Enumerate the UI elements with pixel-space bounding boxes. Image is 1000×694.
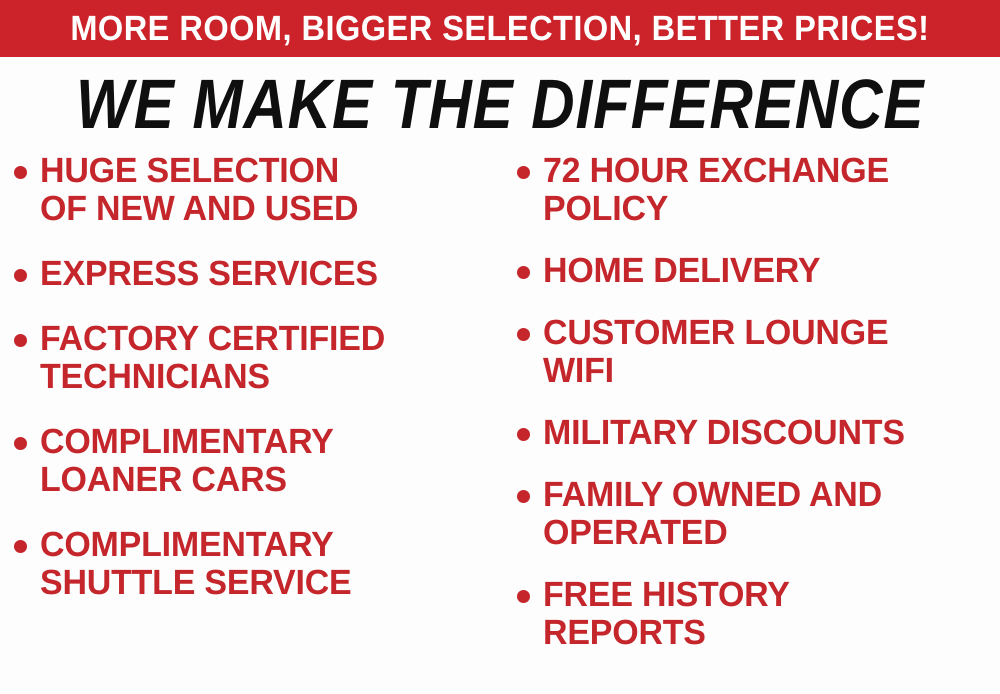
list-item: COMPLIMENTARY SHUTTLE SERVICE [14,526,500,602]
list-item-label: FREE HISTORY REPORTS [543,576,790,652]
list-item-label: FACTORY CERTIFIED TECHNICIANS [40,320,385,396]
list-item: HUGE SELECTION OF NEW AND USED [14,152,500,228]
bullet-dot-icon [14,166,27,179]
features-column-right: 72 HOUR EXCHANGE POLICY HOME DELIVERY CU… [500,152,1000,676]
list-item-label: EXPRESS SERVICES [40,255,378,293]
bullet-dot-icon [517,166,530,179]
top-promo-banner: MORE ROOM, BIGGER SELECTION, BETTER PRIC… [0,0,1000,57]
list-item-label: HOME DELIVERY [543,252,820,290]
bullet-dot-icon [14,269,27,282]
list-item: FREE HISTORY REPORTS [517,576,1000,652]
list-item: MILITARY DISCOUNTS [517,414,1000,452]
bullet-dot-icon [14,540,27,553]
list-item: 72 HOUR EXCHANGE POLICY [517,152,1000,228]
features-columns: HUGE SELECTION OF NEW AND USED EXPRESS S… [0,152,1000,694]
headline-text: WE MAKE THE DIFFERENCE [76,67,924,141]
bullet-dot-icon [517,328,530,341]
list-item-label: COMPLIMENTARY LOANER CARS [40,423,334,499]
list-item-label: HUGE SELECTION OF NEW AND USED [40,152,358,228]
top-promo-banner-text: MORE ROOM, BIGGER SELECTION, BETTER PRIC… [70,11,929,47]
bullet-dot-icon [517,266,530,279]
list-item-label: MILITARY DISCOUNTS [543,414,905,452]
list-item-label: 72 HOUR EXCHANGE POLICY [543,152,889,228]
list-item: FAMILY OWNED AND OPERATED [517,476,1000,552]
bullet-dot-icon [517,490,530,503]
list-item: FACTORY CERTIFIED TECHNICIANS [14,320,500,396]
bullet-dot-icon [517,428,530,441]
list-item: HOME DELIVERY [517,252,1000,290]
list-item-label: FAMILY OWNED AND OPERATED [543,476,882,552]
bullet-dot-icon [14,437,27,450]
advertisement-banner: MORE ROOM, BIGGER SELECTION, BETTER PRIC… [0,0,1000,694]
list-item: CUSTOMER LOUNGE WIFI [517,314,1000,390]
list-item-label: CUSTOMER LOUNGE WIFI [543,314,888,390]
list-item: EXPRESS SERVICES [14,255,500,293]
bullet-dot-icon [517,590,530,603]
features-column-left: HUGE SELECTION OF NEW AND USED EXPRESS S… [0,152,500,629]
list-item: COMPLIMENTARY LOANER CARS [14,423,500,499]
list-item-label: COMPLIMENTARY SHUTTLE SERVICE [40,526,352,602]
bullet-dot-icon [14,334,27,347]
headline-container: WE MAKE THE DIFFERENCE [0,60,1000,148]
